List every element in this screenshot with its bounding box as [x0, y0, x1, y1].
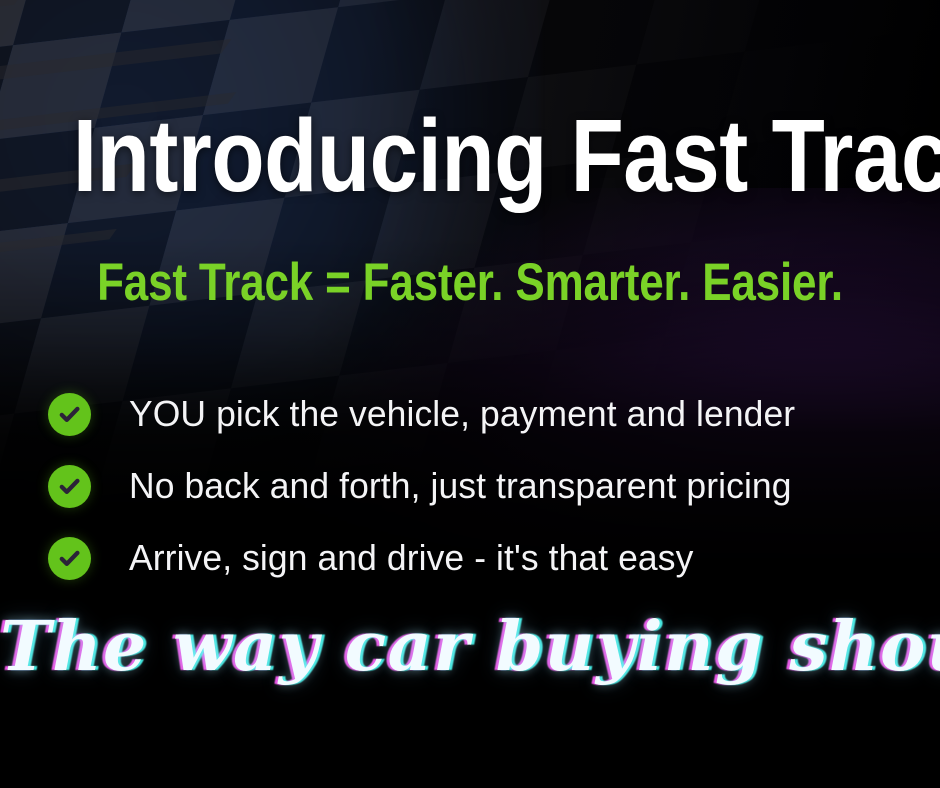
poster-content: Introducing Fast Track Fast Track = Fast…	[0, 0, 940, 788]
list-item: No back and forth, just transparent pric…	[48, 450, 908, 522]
page-title: Introducing Fast Track	[73, 104, 867, 207]
list-item-label: Arrive, sign and drive - it's that easy	[129, 540, 693, 576]
check-circle-icon	[48, 537, 91, 580]
list-item-label: YOU pick the vehicle, payment and lender	[129, 396, 795, 432]
benefits-list: YOU pick the vehicle, payment and lender…	[48, 378, 908, 594]
check-circle-icon	[48, 393, 91, 436]
tagline: The way car buying should be.	[0, 612, 940, 683]
list-item-label: No back and forth, just transparent pric…	[129, 468, 792, 504]
check-circle-icon	[48, 465, 91, 508]
tagline-group: The way car buying should be. The way ca…	[0, 612, 940, 722]
list-item: Arrive, sign and drive - it's that easy	[48, 522, 908, 594]
subtitle: Fast Track = Faster. Smarter. Easier.	[80, 256, 860, 309]
list-item: YOU pick the vehicle, payment and lender	[48, 378, 908, 450]
promo-poster: Introducing Fast Track Fast Track = Fast…	[0, 0, 940, 788]
